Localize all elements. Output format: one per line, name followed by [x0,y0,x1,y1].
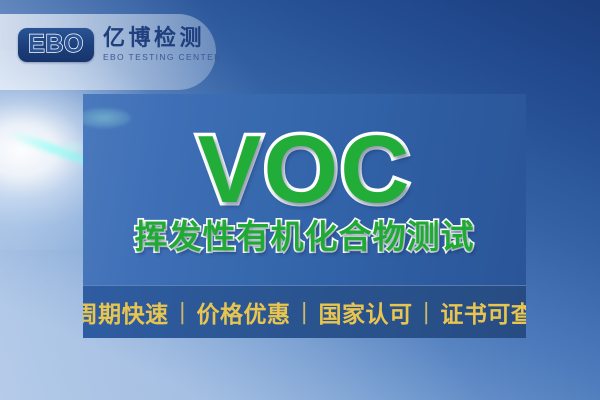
brand-name-cn: 亿博检测 [103,27,222,50]
tagline-item-4: 证书可查 [438,295,526,329]
tagline-item-2: 价格优惠 [195,295,293,329]
ebo-badge-icon: EBO [18,28,94,62]
hero-text-group: VOC 挥发性有机化合物测试 [83,94,526,285]
hero-panel: VOC 挥发性有机化合物测试 周期快速 | 价格优惠 | 国家认可 | 证书可查 [83,94,526,338]
hero-subtitle: 挥发性有机化合物测试 [135,220,475,253]
brand-name-en: EBO TESTING CENTER [103,52,222,62]
tagline-band: 周期快速 | 价格优惠 | 国家认可 | 证书可查 [83,285,526,338]
brand-logo[interactable]: EBO 亿博检测 EBO TESTING CENTER [18,27,222,62]
tagline-item-1: 周期快速 [83,295,171,329]
tagline-separator-1: | [171,300,195,325]
voc-promo-banner: EBO 亿博检测 EBO TESTING CENTER VOC 挥发性有机化合物… [0,0,600,400]
tagline-list: 周期快速 | 价格优惠 | 国家认可 | 证书可查 [83,295,526,329]
tagline-separator-2: | [293,300,317,325]
ebo-badge-text: EBO [28,32,84,57]
hero-title: VOC [197,124,411,216]
tagline-separator-3: | [414,300,438,325]
tagline-item-3: 国家认可 [316,295,414,329]
brand-name-group: 亿博检测 EBO TESTING CENTER [103,27,222,62]
